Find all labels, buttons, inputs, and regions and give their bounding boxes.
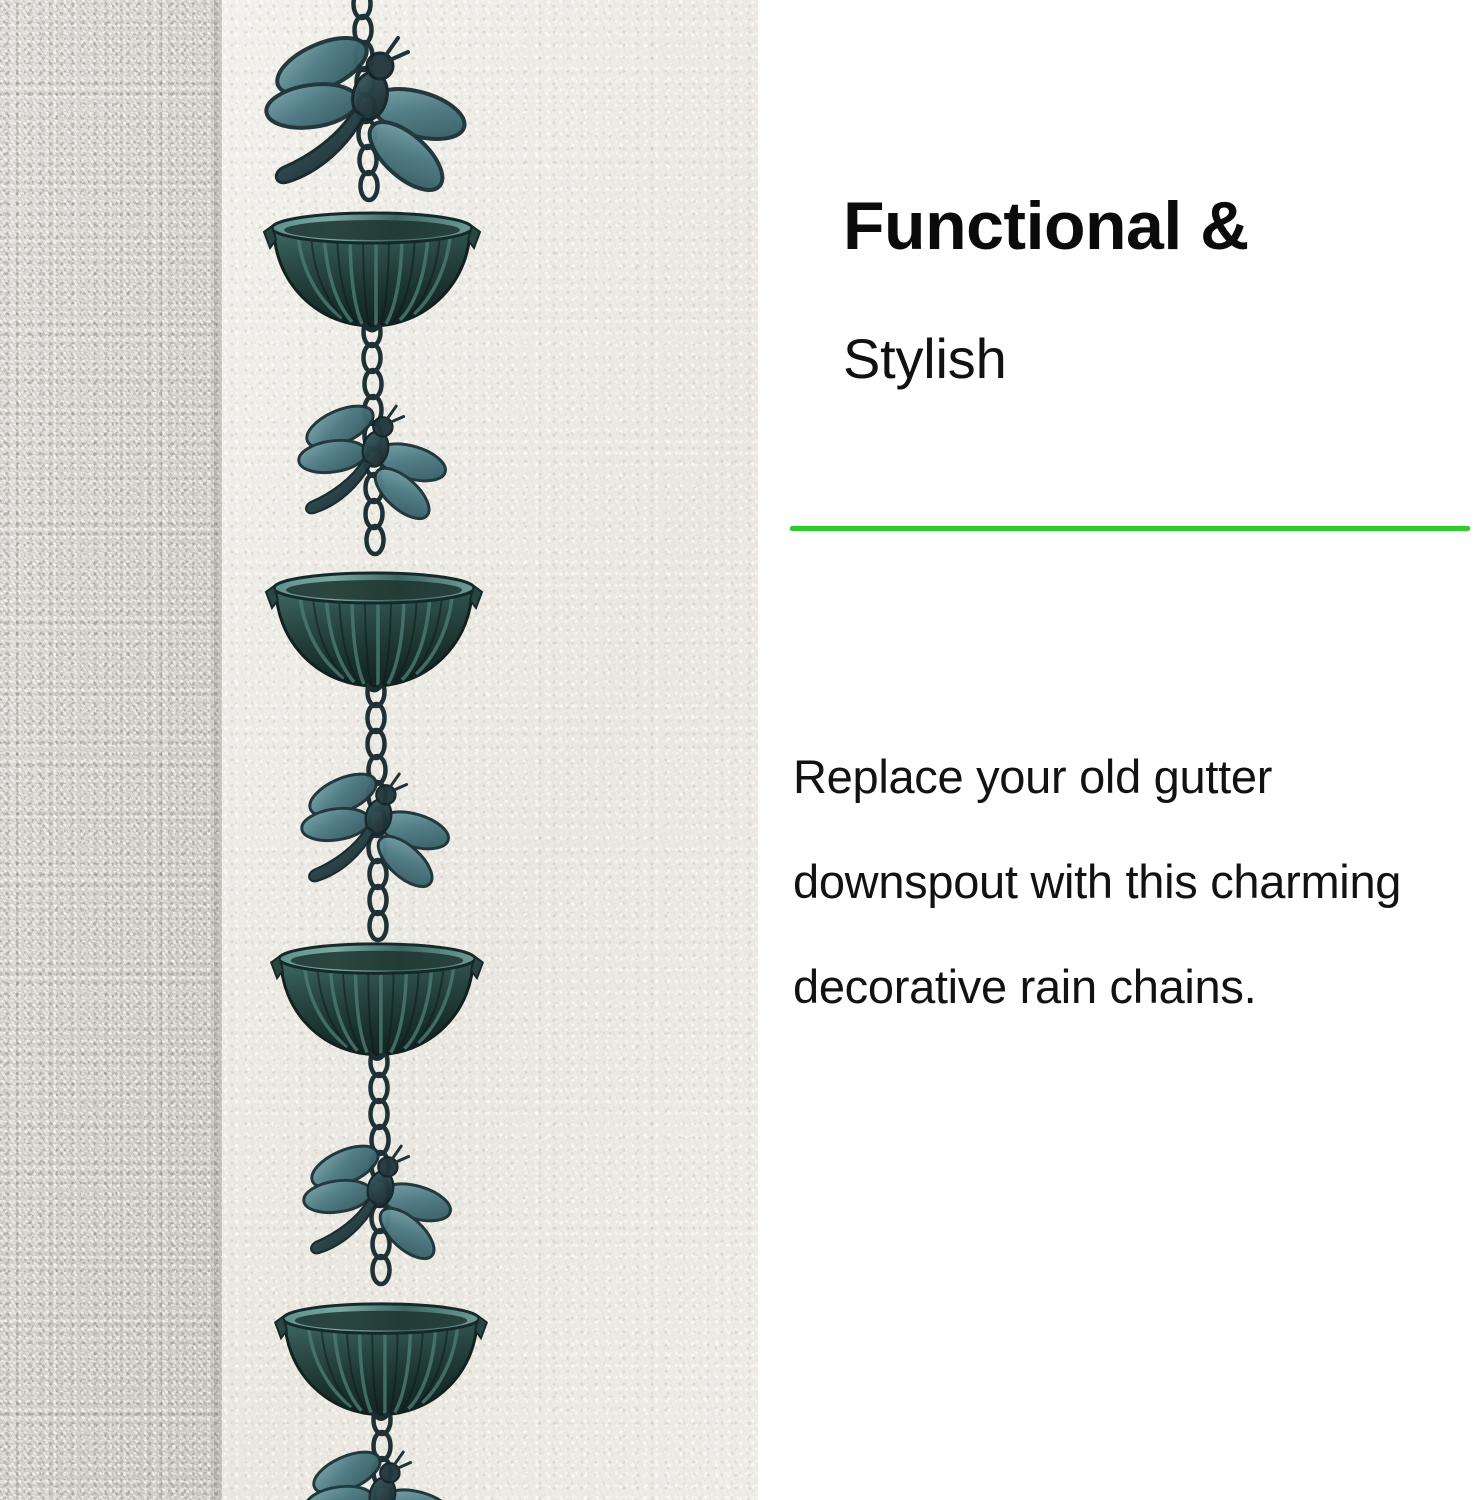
- feature-body-text: Replace your old gutter downspout with t…: [793, 724, 1461, 1039]
- dragonfly-ornament-2: [297, 398, 450, 528]
- product-photo: [0, 0, 758, 1500]
- green-divider: [790, 526, 1470, 531]
- feature-headline: Functional &: [843, 192, 1453, 261]
- cup-ornament-2: [266, 573, 482, 690]
- dragonfly-ornament-4: [302, 1138, 455, 1268]
- feature-text-panel: Functional & Stylish Replace your old gu…: [758, 0, 1478, 1500]
- cup-ornament-4: [275, 1304, 487, 1419]
- cup-ornament-3: [271, 944, 483, 1059]
- dragonfly-ornament-3: [300, 766, 453, 896]
- feature-subheadline: Stylish: [843, 330, 1453, 389]
- rain-chain-graphic: [0, 0, 758, 1500]
- dragonfly-ornament-5: [304, 1444, 457, 1500]
- cup-ornament-1: [264, 213, 480, 330]
- product-feature-card: Functional & Stylish Replace your old gu…: [0, 0, 1478, 1500]
